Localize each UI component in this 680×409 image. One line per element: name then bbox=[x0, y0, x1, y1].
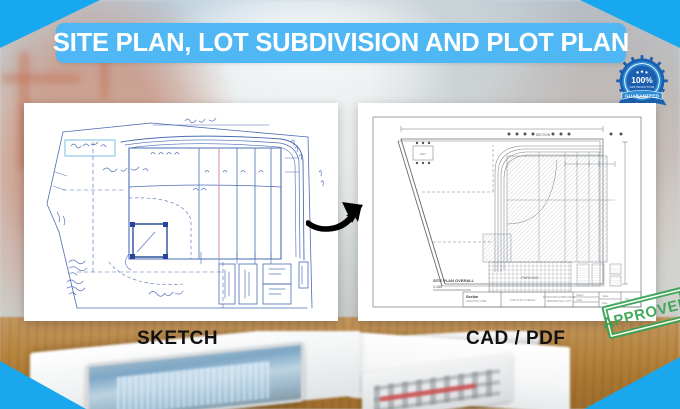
corner-accent-bottom-right bbox=[584, 357, 680, 409]
sketch-nodes bbox=[130, 222, 168, 259]
satisfaction-guarantee-badge: 100% SATISFACTION GUARANTEED bbox=[614, 54, 670, 110]
corner-accent-bottom-left bbox=[0, 361, 86, 409]
sketch-panel bbox=[24, 103, 338, 321]
badge-subtitle: SATISFACTION bbox=[629, 85, 654, 89]
sketch-paper bbox=[33, 112, 329, 312]
sketch-legend-boxes bbox=[219, 262, 308, 304]
transition-arrow bbox=[306, 196, 366, 238]
crane-silhouette-jib bbox=[2, 74, 80, 83]
headline-bar: SITE PLAN, LOT SUBDIVISION AND PLOT PLAN bbox=[56, 23, 626, 63]
cad-annex bbox=[483, 234, 511, 262]
cad-strip-label: SECTION bbox=[536, 133, 551, 137]
caption-sketch: SKETCH bbox=[137, 328, 218, 350]
cad-firm-name: Scribe bbox=[466, 294, 479, 299]
cad-tb-project: PROPOSED SUBDIVISION bbox=[543, 295, 575, 299]
sketch-note-box bbox=[65, 140, 115, 156]
cad-firm-sub: ARCHITECTURE bbox=[466, 299, 487, 303]
caption-cad: CAD / PDF bbox=[466, 328, 566, 350]
cad-drawing-title: SITE PLAN OVERALL bbox=[433, 278, 475, 283]
cad-tb-project2: RESIDENTIAL LOTS bbox=[547, 299, 572, 303]
badge-ribbon-text: GUARANTEED bbox=[625, 94, 660, 99]
sketch-handwriting bbox=[57, 118, 323, 298]
hand-sketch-drawing bbox=[33, 112, 329, 312]
cad-symbol-strip bbox=[508, 133, 623, 136]
badge-percent: 100% bbox=[631, 75, 653, 85]
cad-key-label: KEY bbox=[420, 152, 426, 156]
cad-panel: PARKING SECTION bbox=[358, 103, 656, 321]
cad-parking-label: PARKING bbox=[521, 275, 539, 280]
cad-schedule-boxes bbox=[577, 264, 621, 286]
cad-drawing: PARKING SECTION bbox=[367, 112, 647, 312]
cad-tb-scale: Scale bbox=[602, 294, 609, 298]
bottom-blueprints-photo bbox=[0, 331, 680, 409]
cad-drawing-scale: 1:150 bbox=[433, 285, 442, 289]
cad-tb-drawing: SITE PLAN OVERALL bbox=[510, 298, 537, 302]
cad-dimension-right bbox=[622, 142, 628, 284]
page-title: SITE PLAN, LOT SUBDIVISION AND PLOT PLAN bbox=[53, 29, 629, 58]
cad-building-hatch bbox=[507, 156, 607, 262]
cad-tb-checked: Chkd bbox=[576, 298, 583, 302]
cad-paper: PARKING SECTION bbox=[367, 112, 647, 312]
cad-dimension-top bbox=[401, 126, 603, 132]
gig-thumbnail: SITE PLAN, LOT SUBDIVISION AND PLOT PLAN bbox=[0, 0, 680, 409]
cad-tb-drawn: Drawn bbox=[576, 293, 584, 297]
